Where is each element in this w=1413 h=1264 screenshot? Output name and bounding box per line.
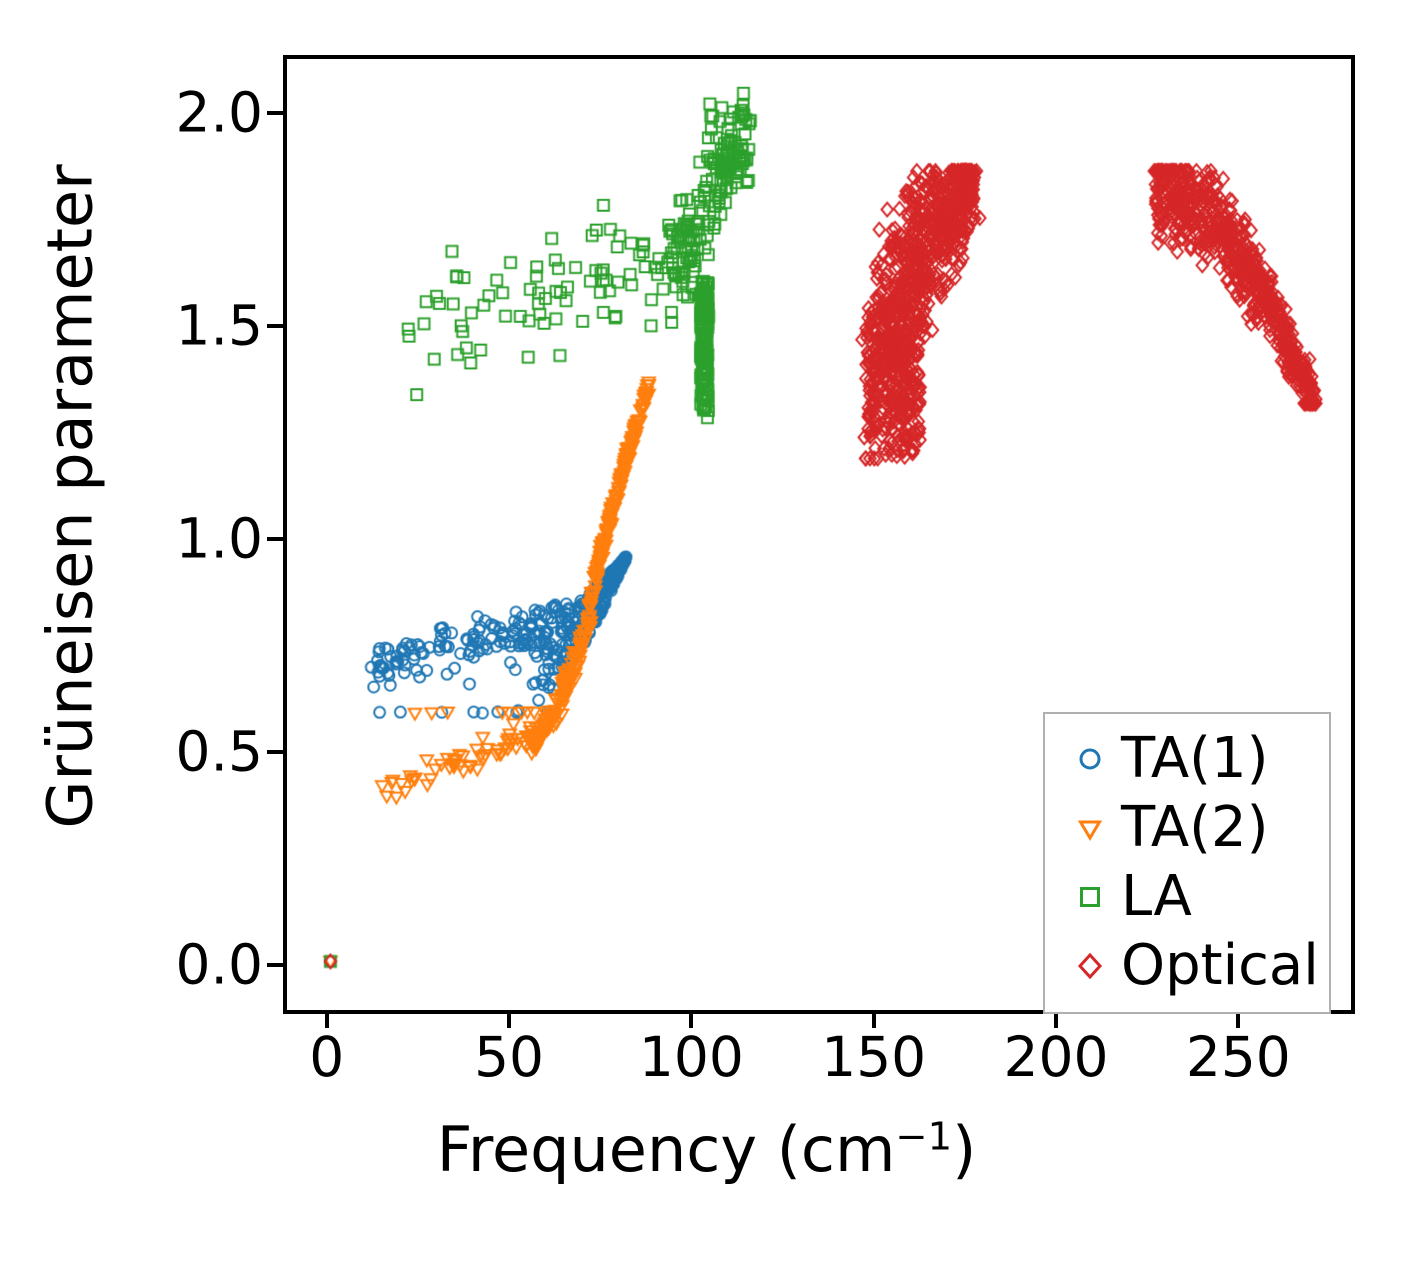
legend-marker-circle-icon: [1059, 744, 1121, 774]
y-axis-title-wrapper: Grüneisen parameter: [34, 0, 107, 997]
x-tick-label: 50: [474, 1030, 544, 1085]
x-axis-title: Frequency (cm−1): [0, 1113, 1413, 1186]
y-tick-mark: [267, 963, 283, 967]
y-tick-label: 0.5: [176, 724, 263, 779]
x-tick-label: 0: [309, 1030, 344, 1085]
y-tick-mark: [267, 537, 283, 541]
legend-item-ta2[interactable]: TA(2): [1059, 793, 1315, 862]
legend-label-ta2: TA(2): [1121, 800, 1269, 856]
x-tick-label: 150: [821, 1030, 926, 1085]
x-axis-title-tail: ): [952, 1113, 976, 1186]
x-tick-label: 100: [639, 1030, 744, 1085]
legend-item-optical[interactable]: Optical: [1059, 931, 1315, 1000]
y-tick-mark: [267, 324, 283, 328]
x-axis-title-exponent: −1: [895, 1114, 952, 1159]
y-tick-label: 1.0: [176, 511, 263, 566]
x-axis-title-main: Frequency (cm: [437, 1113, 896, 1186]
y-tick-mark: [267, 111, 283, 115]
legend-item-la[interactable]: LA: [1059, 862, 1315, 931]
y-tick-label: 2.0: [176, 85, 263, 140]
legend-box: TA(1) TA(2) LA Optical: [1043, 712, 1331, 1014]
x-tick-label: 250: [1186, 1030, 1291, 1085]
legend-label-la: LA: [1121, 869, 1192, 925]
y-axis-title: Grüneisen parameter: [34, 164, 107, 828]
legend-marker-square-icon: [1059, 882, 1121, 912]
x-tick-label: 200: [1004, 1030, 1109, 1085]
legend-label-optical: Optical: [1121, 938, 1319, 994]
y-tick-mark: [267, 750, 283, 754]
legend-item-ta1[interactable]: TA(1): [1059, 724, 1315, 793]
y-tick-label: 0.0: [176, 937, 263, 992]
legend-marker-diamond-icon: [1059, 951, 1121, 981]
figure-canvas: 050100150200250 0.00.51.01.52.0 Frequenc…: [0, 0, 1413, 1264]
legend-label-ta1: TA(1): [1121, 731, 1269, 787]
legend-marker-triangle-down-icon: [1059, 813, 1121, 843]
y-tick-label: 1.5: [176, 298, 263, 353]
